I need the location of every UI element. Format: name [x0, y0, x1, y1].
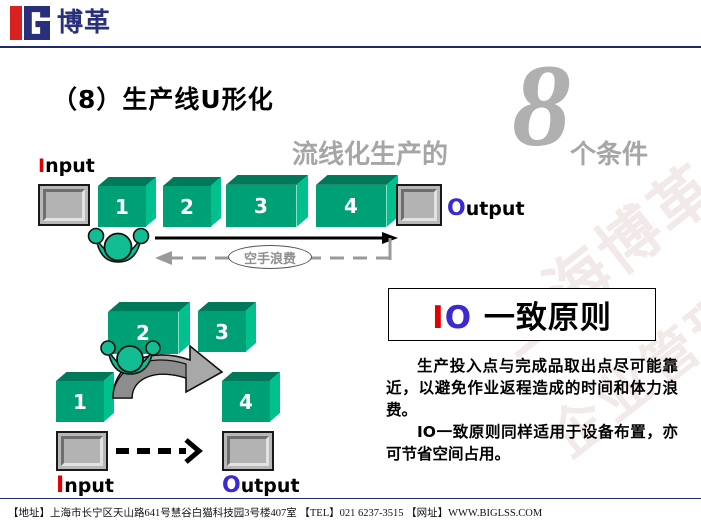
- station-cube-1: 1: [98, 177, 156, 227]
- station-number: 4: [344, 196, 358, 216]
- station-cube-4: 4: [316, 175, 398, 227]
- u-station-cube-4: 4: [222, 372, 280, 422]
- principle-paragraph-1: 生产投入点与完成品取出点尽可能靠近，以避免作业返程造成的时间和体力浪费。: [386, 355, 678, 421]
- bg-monogram-logo-icon: [10, 6, 50, 40]
- u-input-box-inner: [61, 436, 103, 466]
- footer-contact-info: 【地址】上海市长宁区天山路641号慧谷白猫科技园3号楼407室 【TEL】021…: [8, 505, 542, 520]
- big-number-eight: 8: [512, 47, 571, 165]
- station-number: 3: [254, 196, 268, 216]
- u-output-label: Output: [222, 473, 300, 498]
- top-input-rest: nput: [45, 155, 95, 177]
- logo-wordmark: 博革: [57, 10, 111, 36]
- u-output-rest: utput: [241, 475, 300, 497]
- principle-initial-o: O: [445, 300, 472, 336]
- top-input-box-inner: [43, 189, 85, 221]
- slide-canvas: 上海博革 企业管理 博革 （8）生产线U形化 8 流线化生产的 个条件 Inpu…: [0, 0, 701, 525]
- top-output-box: [396, 184, 442, 226]
- cube-front-face: 1: [98, 186, 146, 227]
- station-number: 2: [180, 197, 194, 217]
- u-input-box: [56, 431, 108, 471]
- u-station-cube-3: 3: [198, 302, 256, 352]
- principle-paragraph-2: IO一致原则同样适用于设备布置，亦可节省空间占用。: [386, 421, 678, 465]
- company-logo: 博革: [10, 6, 111, 40]
- u-station-cube-1: 1: [56, 372, 114, 422]
- worker-figure-top-icon: [89, 229, 149, 263]
- top-input-box: [38, 184, 90, 226]
- principle-title: IO 一致原则: [432, 292, 612, 337]
- cube-front-face: 2: [108, 312, 178, 354]
- u-input-rest: nput: [64, 475, 114, 497]
- top-input-label: Input: [38, 155, 95, 177]
- cube-front-face: 4: [222, 381, 270, 422]
- principle-body-copy: 生产投入点与完成品取出点尽可能靠近，以避免作业返程造成的时间和体力浪费。 IO一…: [386, 355, 678, 465]
- cube-front-face: 3: [198, 311, 246, 352]
- subtitle-lead: 流线化生产的: [292, 134, 448, 171]
- top-output-label: Output: [447, 196, 525, 221]
- u-output-box: [222, 431, 274, 471]
- station-number: 2: [136, 323, 150, 343]
- logo-navy-g-icon: [24, 6, 50, 40]
- top-output-rest: utput: [466, 198, 525, 220]
- u-input-label: Input: [56, 473, 114, 498]
- station-number: 4: [239, 392, 253, 412]
- u-input-initial: I: [56, 473, 64, 498]
- u-station-cube-2: 2: [108, 302, 190, 354]
- cube-front-face: 3: [226, 185, 296, 227]
- page-title: （8）生产线U形化: [52, 80, 274, 116]
- station-cube-3: 3: [226, 175, 308, 227]
- cube-front-face: 4: [316, 185, 386, 227]
- cube-front-face: 2: [163, 186, 211, 227]
- station-number: 3: [215, 322, 229, 342]
- station-cube-2: 2: [163, 177, 221, 227]
- top-output-initial: O: [447, 196, 466, 221]
- top-output-box-inner: [401, 189, 437, 221]
- u-output-initial: O: [222, 473, 241, 498]
- subtitle-tail: 个条件: [570, 134, 648, 171]
- logo-red-bar-icon: [10, 6, 22, 40]
- u-output-box-inner: [227, 436, 269, 466]
- waste-label: 空手浪费: [244, 248, 296, 267]
- header-divider: [0, 46, 701, 48]
- station-number: 1: [115, 197, 129, 217]
- waste-callout: 空手浪费: [228, 245, 312, 269]
- cube-front-face: 1: [56, 381, 104, 422]
- forward-flow-arrow-icon: [155, 232, 398, 244]
- principle-title-box: IO 一致原则: [388, 288, 656, 341]
- io-proximity-dashed-arrow-icon: [116, 440, 199, 462]
- principle-initial-i: I: [432, 300, 445, 336]
- principle-label: 一致原则: [472, 300, 612, 336]
- station-number: 1: [73, 392, 87, 412]
